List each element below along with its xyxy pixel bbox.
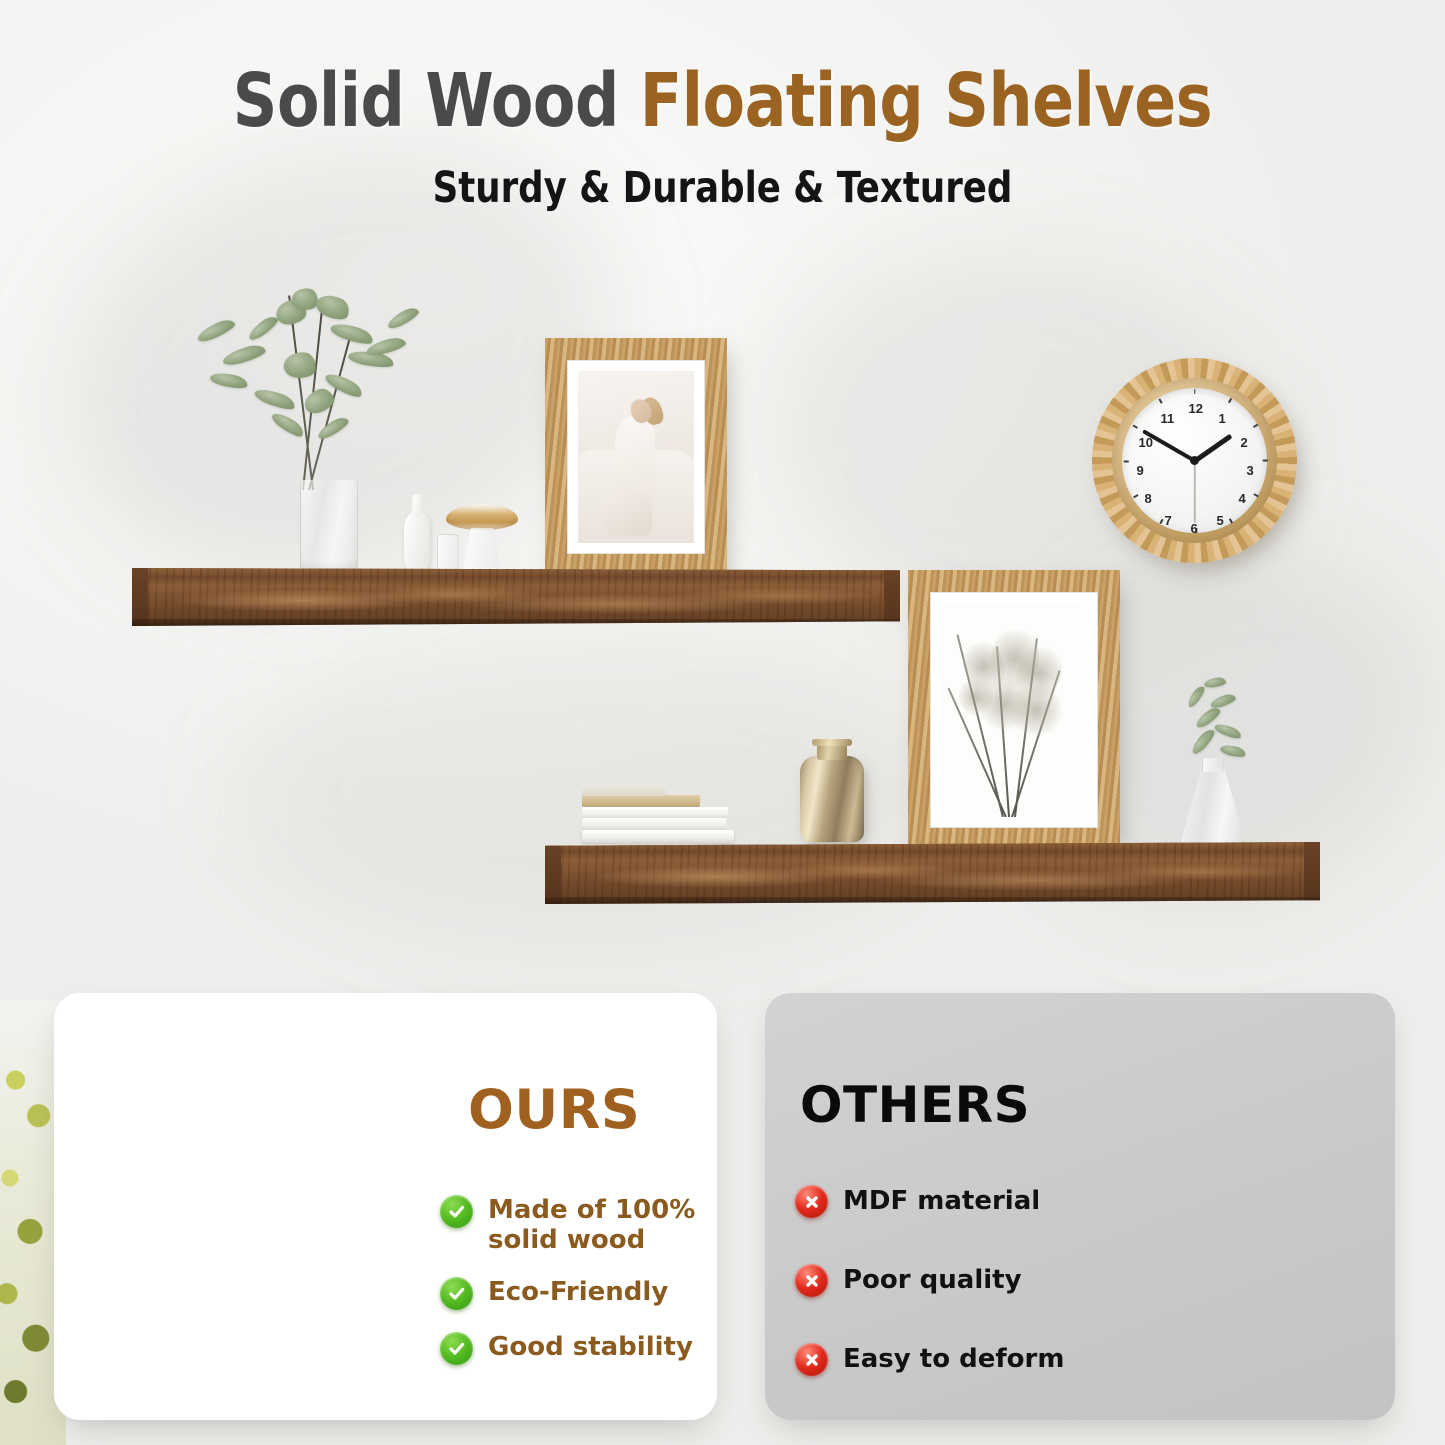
feature-label: Easy to deform — [843, 1344, 1064, 1374]
clock-numeral: 4 — [1239, 491, 1246, 506]
cross-icon — [795, 1343, 828, 1376]
clock-numeral: 11 — [1161, 411, 1175, 426]
list-item: Easy to deform — [795, 1343, 1095, 1376]
ours-feature-list: Made of 100% solid wood Eco-Friendly Goo… — [440, 1195, 700, 1387]
clock-hour-hand — [1193, 433, 1232, 462]
feature-label: MDF material — [843, 1186, 1040, 1216]
title-part-floating-shelves: Floating Shelves — [640, 58, 1212, 144]
cross-icon — [795, 1185, 828, 1218]
conical-clear-vase — [1180, 740, 1246, 844]
page-title: Solid Wood Floating Shelves — [51, 58, 1395, 144]
check-icon — [440, 1195, 473, 1228]
feature-label: Good stability — [488, 1332, 693, 1362]
bronze-glass-vase — [800, 742, 864, 842]
title-part-solid-wood: Solid Wood — [233, 58, 640, 144]
others-title: OTHERS — [800, 1076, 1030, 1134]
wall-clock: 12 1 2 3 4 5 6 7 8 9 10 11 — [1092, 358, 1297, 563]
list-item: Poor quality — [795, 1264, 1095, 1297]
clock-numeral: 12 — [1189, 401, 1203, 416]
check-icon — [440, 1332, 473, 1365]
clock-numeral: 8 — [1145, 491, 1152, 506]
feature-label: Made of 100% solid wood — [488, 1195, 700, 1255]
clock-numeral: 7 — [1165, 513, 1172, 528]
feature-label: Poor quality — [843, 1265, 1022, 1295]
clock-numeral: 5 — [1217, 513, 1224, 528]
gold-rim-glass-dish — [446, 504, 518, 576]
list-item: Eco-Friendly — [440, 1277, 700, 1310]
eucalyptus-branches — [180, 282, 430, 492]
clock-numeral: 9 — [1137, 463, 1144, 478]
check-icon — [440, 1277, 473, 1310]
page-subtitle: Sturdy & Durable & Textured — [58, 163, 1387, 213]
list-item: Good stability — [440, 1332, 700, 1365]
others-feature-list: MDF material Poor quality Easy to deform — [795, 1185, 1095, 1422]
feature-label: Eco-Friendly — [488, 1277, 668, 1307]
cross-icon — [795, 1264, 828, 1297]
portrait-photo — [578, 371, 694, 543]
upper-shelf — [132, 568, 900, 626]
ours-title: OURS — [468, 1078, 640, 1141]
portrait-picture-frame — [545, 338, 727, 576]
botanical-print — [941, 603, 1087, 817]
botanical-picture-frame — [908, 570, 1120, 850]
clock-second-hand — [1194, 461, 1196, 523]
list-item: MDF material — [795, 1185, 1095, 1218]
glass-cylinder-vase — [300, 480, 358, 575]
product-infographic: Solid Wood Floating Shelves Sturdy & Dur… — [0, 0, 1445, 1445]
clock-numeral: 1 — [1219, 411, 1226, 426]
clock-center-pin — [1190, 456, 1199, 465]
stacked-books — [582, 785, 734, 843]
clock-numeral: 3 — [1247, 463, 1254, 478]
lower-shelf — [545, 842, 1320, 904]
clock-numeral: 2 — [1241, 435, 1248, 450]
white-bud-vase — [404, 512, 430, 576]
clock-face: 12 1 2 3 4 5 6 7 8 9 10 11 — [1122, 388, 1267, 533]
list-item: Made of 100% solid wood — [440, 1195, 700, 1255]
